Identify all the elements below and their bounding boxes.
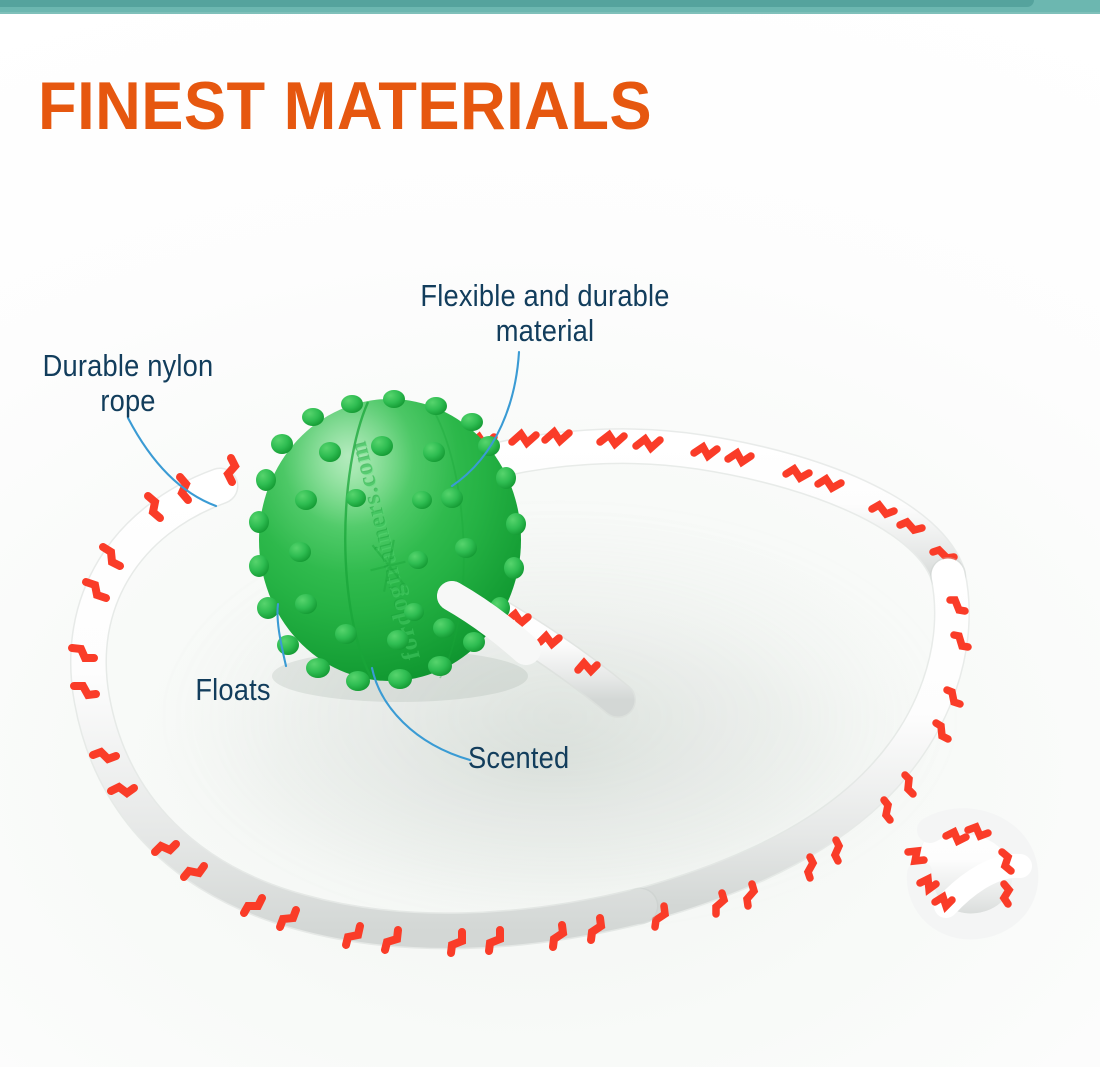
callout-label-scented: Scented xyxy=(468,740,609,775)
callout-label-material: Flexible and durable material xyxy=(413,278,677,348)
infographic-page: fordogtrainers.com fordogtrainers.com xyxy=(0,0,1100,1067)
callout-label-rope: Durable nylon rope xyxy=(31,348,225,418)
page-title: FINEST MATERIALS xyxy=(38,72,652,140)
product-illustration: fordogtrainers.com fordogtrainers.com xyxy=(0,0,1100,1067)
callout-label-floats: Floats xyxy=(176,672,290,707)
rope-knot xyxy=(908,814,1035,930)
